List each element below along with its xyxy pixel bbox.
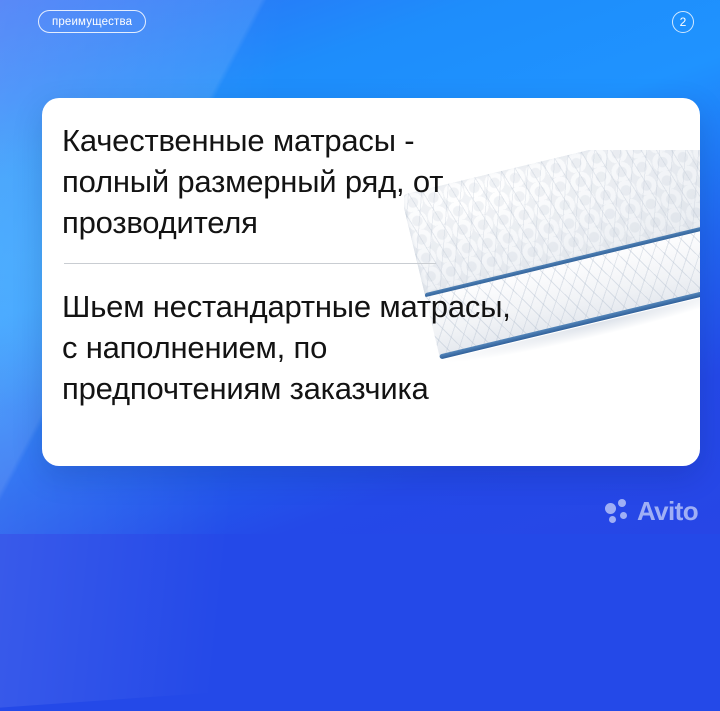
category-badge: преимущества — [38, 10, 146, 33]
avito-watermark: Avito — [605, 498, 698, 524]
avito-dots-icon — [605, 499, 630, 524]
avito-brand-text: Avito — [637, 498, 698, 524]
content-divider — [64, 263, 436, 264]
slide-number-badge: 2 — [672, 11, 694, 33]
content-card: Качественные матрасы - полный размерный … — [42, 98, 700, 466]
headline-text: Качественные матрасы - полный размерный … — [62, 120, 482, 243]
subline-text: Шьем нестандартные матрасы, с наполнение… — [62, 286, 532, 409]
card-content: Качественные матрасы - полный размерный … — [62, 120, 482, 409]
